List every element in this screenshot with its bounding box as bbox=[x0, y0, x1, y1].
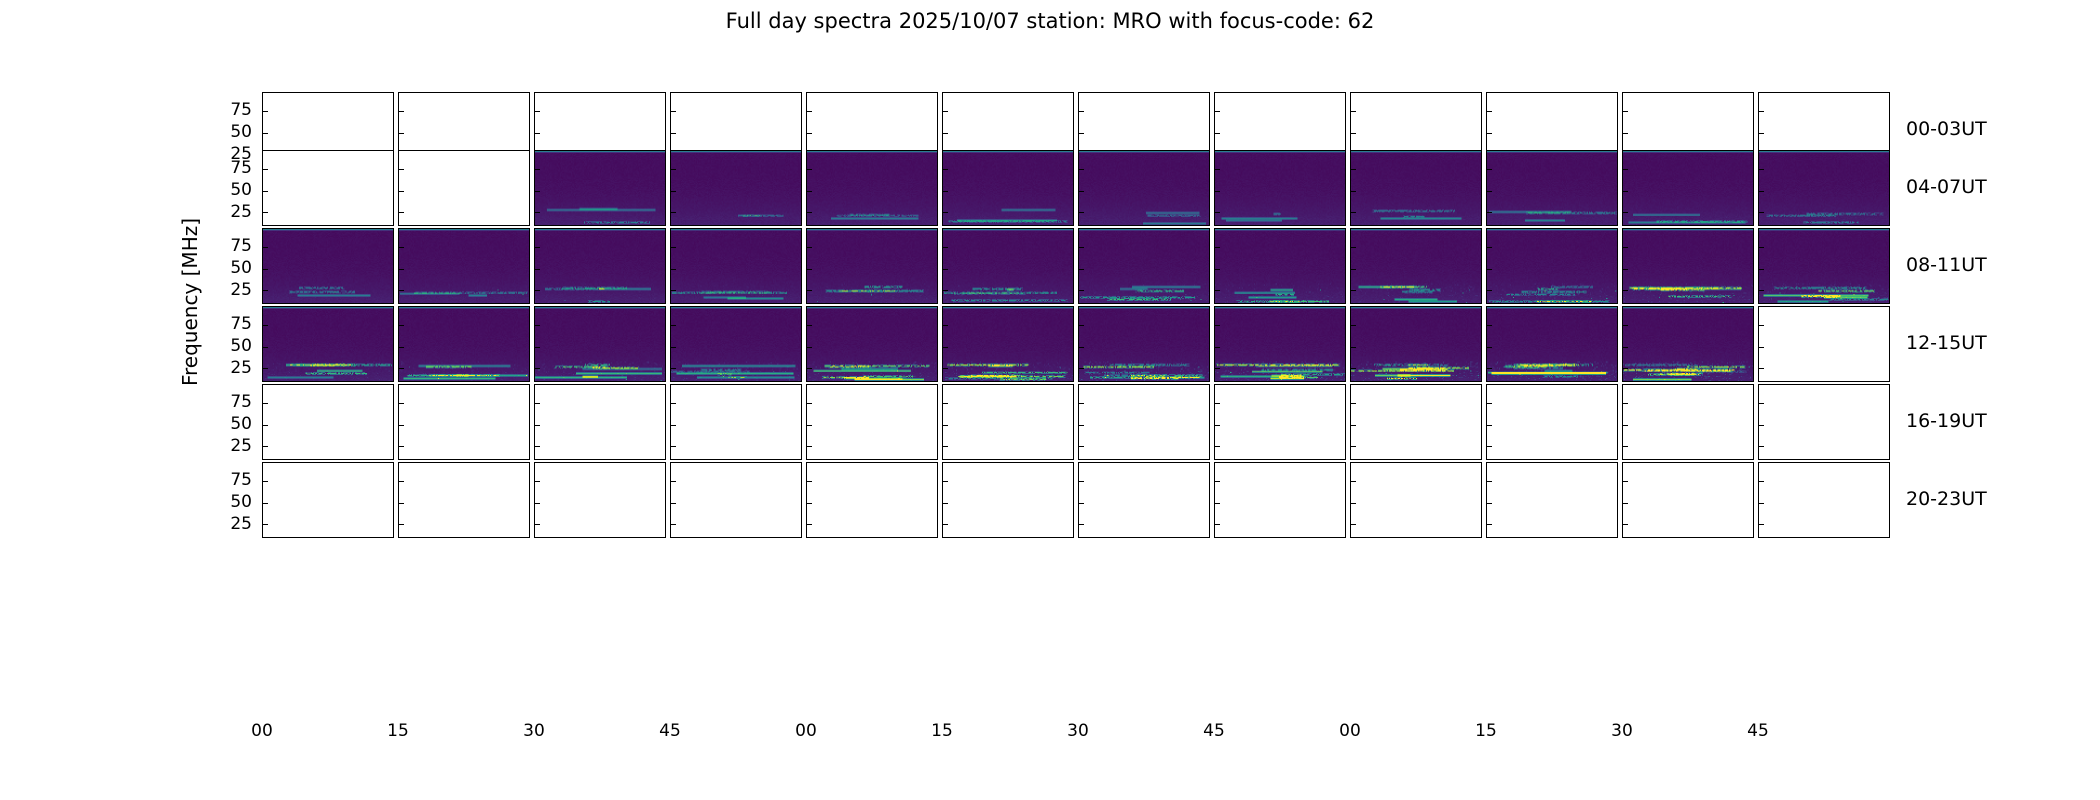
y-tick-label: 50 bbox=[230, 494, 252, 511]
spectrogram-tile[interactable] bbox=[1758, 462, 1890, 538]
y-tick-mark bbox=[1214, 212, 1220, 213]
y-tick-mark bbox=[1078, 111, 1084, 112]
spectrogram-canvas bbox=[535, 229, 665, 303]
spectrogram-tile[interactable] bbox=[262, 306, 394, 382]
spectrogram-tile[interactable] bbox=[534, 306, 666, 382]
y-tick-mark bbox=[262, 446, 268, 447]
spectrogram-tile[interactable] bbox=[1622, 228, 1754, 304]
y-tick-mark bbox=[670, 269, 676, 270]
y-tick-mark bbox=[942, 212, 948, 213]
x-tick-label: 30 bbox=[1611, 722, 1633, 740]
x-tick-cell: 15 bbox=[1486, 722, 1618, 746]
y-tick-label: 50 bbox=[230, 182, 252, 199]
spectrogram-image bbox=[263, 229, 393, 303]
y-tick-mark bbox=[534, 191, 540, 192]
spectrogram-tile[interactable] bbox=[806, 150, 938, 226]
spectrogram-tile[interactable] bbox=[1622, 462, 1754, 538]
spectrogram-canvas bbox=[1759, 229, 1889, 303]
y-tick-mark bbox=[398, 481, 404, 482]
y-tick-mark bbox=[398, 133, 404, 134]
x-tick-label: 45 bbox=[1203, 722, 1225, 740]
y-tick-mark bbox=[398, 212, 404, 213]
spectrogram-tile[interactable] bbox=[1078, 384, 1210, 460]
y-tick-mark bbox=[1214, 403, 1220, 404]
y-tick-mark bbox=[670, 325, 676, 326]
spectrogram-canvas bbox=[535, 307, 665, 381]
y-axis-label: Frequency [MHz] bbox=[175, 290, 205, 314]
y-tick-mark bbox=[1350, 325, 1356, 326]
spectrogram-tile[interactable] bbox=[1758, 228, 1890, 304]
row-subaxes-strip bbox=[262, 228, 1890, 304]
y-tick-mark bbox=[534, 403, 540, 404]
y-axis-tick-labels: 755025 bbox=[206, 306, 252, 382]
spectrogram-tile[interactable] bbox=[398, 384, 530, 460]
spectrogram-tile[interactable] bbox=[1758, 306, 1890, 382]
spectrogram-tile[interactable] bbox=[806, 228, 938, 304]
y-tick-mark bbox=[534, 290, 540, 291]
y-tick-mark bbox=[1214, 481, 1220, 482]
y-tick-mark bbox=[1078, 325, 1084, 326]
spectrogram-canvas bbox=[1351, 229, 1481, 303]
spectrogram-image bbox=[671, 229, 801, 303]
y-tick-mark bbox=[534, 212, 540, 213]
spectrogram-tile[interactable] bbox=[1350, 462, 1482, 538]
y-tick-mark bbox=[942, 368, 948, 369]
spectrogram-canvas bbox=[671, 151, 801, 225]
y-tick-mark bbox=[942, 524, 948, 525]
y-tick-mark bbox=[262, 111, 268, 112]
y-tick-mark bbox=[534, 111, 540, 112]
x-tick-label: 45 bbox=[659, 722, 681, 740]
y-tick-mark bbox=[942, 446, 948, 447]
y-tick-label: 75 bbox=[230, 238, 252, 255]
y-tick-mark bbox=[1214, 247, 1220, 248]
y-tick-mark bbox=[398, 169, 404, 170]
spectrogram-tile[interactable] bbox=[1486, 306, 1618, 382]
y-tick-mark bbox=[942, 481, 948, 482]
y-tick-mark bbox=[1350, 446, 1356, 447]
y-tick-mark bbox=[1486, 290, 1492, 291]
y-tick-mark bbox=[806, 425, 812, 426]
y-tick-mark bbox=[1350, 169, 1356, 170]
y-tick-mark bbox=[1350, 191, 1356, 192]
spectrogram-image bbox=[671, 151, 801, 225]
y-tick-mark bbox=[806, 269, 812, 270]
x-tick-cell: 30 bbox=[1078, 722, 1210, 746]
y-tick-mark bbox=[1622, 446, 1628, 447]
x-tick-label: 15 bbox=[1475, 722, 1497, 740]
y-tick-mark bbox=[262, 169, 268, 170]
spectrogram-tile[interactable] bbox=[1758, 150, 1890, 226]
spectrogram-image bbox=[807, 151, 937, 225]
y-tick-mark bbox=[1758, 212, 1764, 213]
y-tick-mark bbox=[1214, 425, 1220, 426]
spectrogram-image bbox=[1215, 307, 1345, 381]
page-title: Full day spectra 2025/10/07 station: MRO… bbox=[0, 8, 2100, 34]
spectrogram-image bbox=[1623, 229, 1753, 303]
spectrogram-tile[interactable] bbox=[398, 228, 530, 304]
spectrogram-image bbox=[1623, 307, 1753, 381]
y-tick-mark bbox=[1078, 446, 1084, 447]
spectrogram-figure: Full day spectra 2025/10/07 station: MRO… bbox=[0, 0, 2100, 800]
spectrogram-tile[interactable] bbox=[1214, 228, 1346, 304]
y-tick-mark bbox=[942, 247, 948, 248]
spectrogram-tile[interactable] bbox=[1078, 228, 1210, 304]
y-tick-mark bbox=[806, 212, 812, 213]
y-tick-mark bbox=[1078, 212, 1084, 213]
spectrogram-image bbox=[1351, 151, 1481, 225]
y-tick-mark bbox=[1078, 347, 1084, 348]
spectrogram-tile[interactable] bbox=[1214, 462, 1346, 538]
y-tick-mark bbox=[1758, 133, 1764, 134]
y-tick-mark bbox=[1622, 212, 1628, 213]
spectrogram-canvas bbox=[1487, 151, 1617, 225]
spectrogram-tile[interactable] bbox=[1214, 150, 1346, 226]
y-tick-mark bbox=[670, 111, 676, 112]
spectrogram-canvas bbox=[807, 229, 937, 303]
y-axis-tick-labels: 755025 bbox=[206, 228, 252, 304]
spectrogram-tile[interactable] bbox=[534, 462, 666, 538]
y-tick-mark bbox=[398, 347, 404, 348]
spectrogram-tile[interactable] bbox=[1350, 150, 1482, 226]
y-tick-mark bbox=[1622, 325, 1628, 326]
y-axis-tick-labels: 755025 bbox=[206, 384, 252, 460]
spectrogram-image bbox=[399, 307, 529, 381]
spectrogram-tile[interactable] bbox=[806, 384, 938, 460]
spectrogram-image bbox=[1487, 307, 1617, 381]
x-tick-label: 45 bbox=[1747, 722, 1769, 740]
y-tick-label: 25 bbox=[230, 360, 252, 377]
spectrogram-image bbox=[1759, 229, 1889, 303]
spectrogram-tile[interactable] bbox=[534, 384, 666, 460]
y-tick-mark bbox=[1486, 133, 1492, 134]
spectrogram-tile[interactable] bbox=[262, 228, 394, 304]
spectrogram-row-08-11ut[interactable] bbox=[262, 228, 1890, 304]
y-tick-mark bbox=[1758, 325, 1764, 326]
spectrogram-tile[interactable] bbox=[1486, 384, 1618, 460]
y-tick-mark bbox=[806, 481, 812, 482]
y-tick-mark bbox=[1078, 133, 1084, 134]
y-tick-label: 75 bbox=[230, 472, 252, 489]
y-tick-mark bbox=[398, 191, 404, 192]
y-tick-mark bbox=[1214, 111, 1220, 112]
y-tick-mark bbox=[398, 290, 404, 291]
y-tick-mark bbox=[1486, 481, 1492, 482]
y-tick-mark bbox=[534, 269, 540, 270]
y-tick-mark bbox=[1078, 269, 1084, 270]
y-tick-mark bbox=[806, 446, 812, 447]
x-tick-label: 15 bbox=[931, 722, 953, 740]
spectrogram-tile[interactable] bbox=[1214, 384, 1346, 460]
y-tick-mark bbox=[670, 481, 676, 482]
y-tick-mark bbox=[1214, 290, 1220, 291]
y-tick-mark bbox=[262, 425, 268, 426]
row-subaxes-strip bbox=[262, 306, 1890, 382]
y-tick-mark bbox=[806, 111, 812, 112]
y-tick-mark bbox=[262, 325, 268, 326]
y-tick-label: 25 bbox=[230, 516, 252, 533]
spectrogram-tile[interactable] bbox=[942, 228, 1074, 304]
spectrogram-image bbox=[1487, 151, 1617, 225]
spectrogram-tile[interactable] bbox=[534, 228, 666, 304]
y-tick-mark bbox=[1214, 169, 1220, 170]
row-time-label: 12-15UT bbox=[1906, 334, 1987, 353]
y-tick-mark bbox=[262, 368, 268, 369]
spectrogram-image bbox=[1351, 307, 1481, 381]
y-tick-mark bbox=[670, 133, 676, 134]
spectrogram-image bbox=[1215, 151, 1345, 225]
y-tick-label: 75 bbox=[230, 160, 252, 177]
y-tick-mark bbox=[534, 347, 540, 348]
spectrogram-image bbox=[1215, 229, 1345, 303]
y-tick-mark bbox=[1758, 403, 1764, 404]
spectrogram-image bbox=[399, 229, 529, 303]
spectrogram-canvas bbox=[399, 229, 529, 303]
y-tick-mark bbox=[942, 111, 948, 112]
y-tick-mark bbox=[534, 481, 540, 482]
y-tick-mark bbox=[262, 269, 268, 270]
y-tick-mark bbox=[1078, 403, 1084, 404]
spectrogram-tile[interactable] bbox=[398, 462, 530, 538]
spectrogram-canvas bbox=[1079, 307, 1209, 381]
y-tick-mark bbox=[1758, 446, 1764, 447]
row-subaxes-strip bbox=[262, 150, 1890, 226]
y-tick-label: 25 bbox=[230, 204, 252, 221]
spectrogram-canvas bbox=[399, 307, 529, 381]
spectrogram-tile[interactable] bbox=[1078, 306, 1210, 382]
y-tick-mark bbox=[398, 403, 404, 404]
spectrogram-tile[interactable] bbox=[670, 462, 802, 538]
y-tick-mark bbox=[670, 191, 676, 192]
spectrogram-canvas bbox=[807, 151, 937, 225]
spectrogram-row-20-23ut[interactable] bbox=[262, 462, 1890, 538]
y-tick-mark bbox=[670, 403, 676, 404]
x-tick-label: 00 bbox=[251, 722, 273, 740]
y-tick-mark bbox=[1214, 347, 1220, 348]
y-tick-mark bbox=[1350, 403, 1356, 404]
y-tick-mark bbox=[1214, 269, 1220, 270]
y-tick-mark bbox=[806, 368, 812, 369]
spectrogram-tile[interactable] bbox=[670, 306, 802, 382]
spectrogram-tile[interactable] bbox=[398, 306, 530, 382]
spectrogram-tile[interactable] bbox=[1486, 150, 1618, 226]
spectrogram-canvas bbox=[263, 307, 393, 381]
y-tick-label: 75 bbox=[230, 102, 252, 119]
y-tick-mark bbox=[1078, 503, 1084, 504]
y-tick-mark bbox=[1078, 247, 1084, 248]
y-tick-mark bbox=[262, 481, 268, 482]
spectrogram-tile[interactable] bbox=[1350, 228, 1482, 304]
spectrogram-canvas bbox=[1351, 151, 1481, 225]
y-tick-mark bbox=[1486, 325, 1492, 326]
y-tick-mark bbox=[398, 446, 404, 447]
y-tick-mark bbox=[1214, 133, 1220, 134]
y-tick-mark bbox=[1758, 368, 1764, 369]
spectrogram-tile[interactable] bbox=[1078, 462, 1210, 538]
y-tick-mark bbox=[1350, 368, 1356, 369]
spectrogram-tile[interactable] bbox=[1486, 228, 1618, 304]
y-tick-mark bbox=[262, 212, 268, 213]
spectrogram-image bbox=[943, 229, 1073, 303]
y-tick-mark bbox=[1622, 347, 1628, 348]
spectrogram-tile[interactable] bbox=[262, 462, 394, 538]
y-tick-mark bbox=[1214, 503, 1220, 504]
y-tick-label: 50 bbox=[230, 416, 252, 433]
y-tick-mark bbox=[670, 212, 676, 213]
y-tick-mark bbox=[1622, 247, 1628, 248]
spectrogram-tile[interactable] bbox=[534, 150, 666, 226]
spectrogram-tile[interactable] bbox=[1622, 384, 1754, 460]
y-tick-mark bbox=[670, 290, 676, 291]
spectrogram-row-16-19ut[interactable] bbox=[262, 384, 1890, 460]
spectrogram-canvas bbox=[943, 151, 1073, 225]
spectrogram-canvas bbox=[943, 307, 1073, 381]
spectrogram-tile[interactable] bbox=[670, 150, 802, 226]
y-tick-mark bbox=[1486, 269, 1492, 270]
x-tick-label: 00 bbox=[1339, 722, 1361, 740]
y-tick-mark bbox=[262, 290, 268, 291]
spectrogram-canvas bbox=[1487, 229, 1617, 303]
y-tick-mark bbox=[806, 247, 812, 248]
y-tick-mark bbox=[1622, 133, 1628, 134]
y-tick-label: 25 bbox=[230, 282, 252, 299]
x-tick-cell: 45 bbox=[1758, 722, 1890, 746]
y-tick-mark bbox=[1758, 524, 1764, 525]
spectrogram-canvas bbox=[535, 151, 665, 225]
spectrogram-canvas bbox=[943, 229, 1073, 303]
y-tick-label: 75 bbox=[230, 316, 252, 333]
spectrogram-tile[interactable] bbox=[806, 462, 938, 538]
x-tick-label: 00 bbox=[795, 722, 817, 740]
y-tick-mark bbox=[534, 446, 540, 447]
y-tick-mark bbox=[262, 247, 268, 248]
y-tick-mark bbox=[1486, 524, 1492, 525]
spectrogram-tile[interactable] bbox=[942, 462, 1074, 538]
y-tick-mark bbox=[1078, 169, 1084, 170]
x-tick-cell: 30 bbox=[1622, 722, 1754, 746]
y-tick-mark bbox=[534, 503, 540, 504]
spectrogram-tile[interactable] bbox=[1622, 150, 1754, 226]
y-tick-mark bbox=[1350, 290, 1356, 291]
y-tick-label: 50 bbox=[230, 124, 252, 141]
spectrogram-image bbox=[1487, 229, 1617, 303]
y-axis-label-text: Frequency [MHz] bbox=[178, 192, 202, 412]
y-tick-mark bbox=[942, 269, 948, 270]
spectrogram-row-12-15ut[interactable] bbox=[262, 306, 1890, 382]
y-tick-mark bbox=[1622, 191, 1628, 192]
y-tick-mark bbox=[670, 524, 676, 525]
y-tick-mark bbox=[262, 347, 268, 348]
y-tick-mark bbox=[1350, 524, 1356, 525]
y-tick-mark bbox=[1214, 524, 1220, 525]
spectrogram-canvas bbox=[1487, 307, 1617, 381]
spectrogram-tile[interactable] bbox=[1350, 384, 1482, 460]
y-tick-mark bbox=[1622, 403, 1628, 404]
x-tick-cell: 45 bbox=[670, 722, 802, 746]
spectrogram-tile[interactable] bbox=[670, 228, 802, 304]
row-time-label: 00-03UT bbox=[1906, 120, 1987, 139]
spectrogram-canvas bbox=[671, 229, 801, 303]
y-tick-mark bbox=[1214, 191, 1220, 192]
y-tick-mark bbox=[942, 347, 948, 348]
y-tick-mark bbox=[806, 347, 812, 348]
y-tick-mark bbox=[398, 269, 404, 270]
spectrogram-image bbox=[807, 307, 937, 381]
spectrogram-canvas bbox=[1215, 307, 1345, 381]
y-tick-mark bbox=[1078, 191, 1084, 192]
y-tick-mark bbox=[942, 403, 948, 404]
spectrogram-tile[interactable] bbox=[262, 384, 394, 460]
spectrogram-image bbox=[535, 307, 665, 381]
spectrogram-tile[interactable] bbox=[1758, 384, 1890, 460]
spectrogram-tile[interactable] bbox=[942, 306, 1074, 382]
y-tick-mark bbox=[1486, 111, 1492, 112]
y-tick-mark bbox=[1758, 425, 1764, 426]
y-tick-mark bbox=[1758, 169, 1764, 170]
y-tick-mark bbox=[1758, 111, 1764, 112]
y-tick-mark bbox=[670, 368, 676, 369]
spectrogram-canvas bbox=[263, 229, 393, 303]
spectrogram-image bbox=[1079, 307, 1209, 381]
y-tick-mark bbox=[806, 503, 812, 504]
y-tick-mark bbox=[1350, 481, 1356, 482]
y-tick-mark bbox=[1622, 111, 1628, 112]
spectrogram-tile[interactable] bbox=[398, 150, 530, 226]
y-tick-mark bbox=[1486, 169, 1492, 170]
y-tick-mark bbox=[806, 133, 812, 134]
spectrogram-canvas bbox=[1079, 151, 1209, 225]
spectrogram-image bbox=[535, 229, 665, 303]
y-tick-mark bbox=[1350, 425, 1356, 426]
y-tick-mark bbox=[1622, 524, 1628, 525]
x-tick-cell: 00 bbox=[262, 722, 394, 746]
y-tick-mark bbox=[398, 503, 404, 504]
spectrogram-tile[interactable] bbox=[1078, 150, 1210, 226]
y-tick-mark bbox=[398, 325, 404, 326]
y-tick-mark bbox=[1622, 290, 1628, 291]
spectrogram-tile[interactable] bbox=[806, 306, 938, 382]
y-tick-mark bbox=[398, 425, 404, 426]
spectrogram-image bbox=[1623, 151, 1753, 225]
spectrogram-row-04-07ut[interactable] bbox=[262, 150, 1890, 226]
x-tick-cell: 00 bbox=[1350, 722, 1482, 746]
spectrogram-tile[interactable] bbox=[1214, 306, 1346, 382]
spectrogram-tile[interactable] bbox=[1350, 306, 1482, 382]
y-tick-mark bbox=[1350, 212, 1356, 213]
y-tick-mark bbox=[262, 191, 268, 192]
x-tick-cell: 00 bbox=[806, 722, 938, 746]
y-tick-mark bbox=[942, 191, 948, 192]
spectrogram-tile[interactable] bbox=[1622, 306, 1754, 382]
y-tick-mark bbox=[1214, 446, 1220, 447]
x-tick-cell: 30 bbox=[534, 722, 666, 746]
spectrogram-canvas bbox=[671, 307, 801, 381]
spectrogram-tile[interactable] bbox=[262, 150, 394, 226]
y-tick-mark bbox=[1486, 446, 1492, 447]
y-tick-label: 25 bbox=[230, 438, 252, 455]
y-tick-mark bbox=[1350, 247, 1356, 248]
spectrogram-tile[interactable] bbox=[1486, 462, 1618, 538]
spectrogram-tile[interactable] bbox=[942, 150, 1074, 226]
y-tick-mark bbox=[1350, 503, 1356, 504]
spectrogram-image bbox=[1079, 151, 1209, 225]
spectrogram-tile[interactable] bbox=[670, 384, 802, 460]
y-tick-mark bbox=[262, 403, 268, 404]
y-tick-mark bbox=[1078, 481, 1084, 482]
y-tick-mark bbox=[534, 325, 540, 326]
spectrogram-tile[interactable] bbox=[942, 384, 1074, 460]
spectrogram-image bbox=[1351, 229, 1481, 303]
